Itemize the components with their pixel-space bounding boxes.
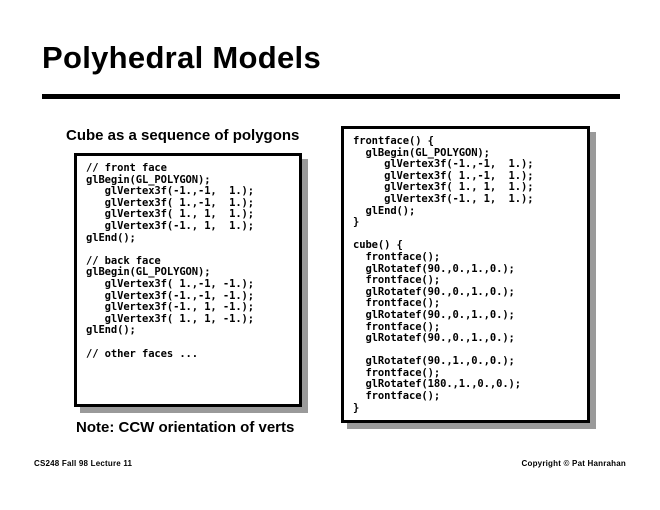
code-text-left: // front face glBegin(GL_POLYGON); glVer… [77, 156, 299, 366]
slide-canvas: Polyhedral Models Cube as a sequence of … [0, 0, 660, 510]
code-block-cube-polygons: // front face glBegin(GL_POLYGON); glVer… [74, 153, 302, 407]
ccw-orientation-note: Note: CCW orientation of verts [76, 419, 294, 436]
footer-course-info: CS248 Fall 98 Lecture 11 [34, 459, 132, 468]
page-title: Polyhedral Models [42, 40, 321, 76]
footer-copyright: Copyright © Pat Hanrahan [522, 459, 626, 468]
left-section-heading: Cube as a sequence of polygons [66, 127, 299, 144]
code-block-frontface-cube: frontface() { glBegin(GL_POLYGON); glVer… [341, 126, 590, 423]
code-text-right: frontface() { glBegin(GL_POLYGON); glVer… [344, 129, 587, 420]
title-divider [42, 94, 620, 99]
